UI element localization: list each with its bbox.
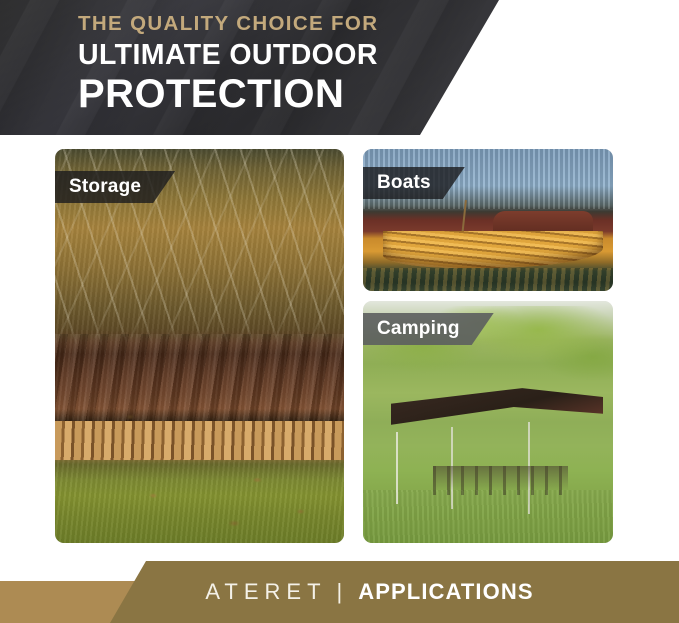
storage-photo: [55, 149, 344, 543]
panel-camping[interactable]: Camping: [363, 301, 613, 543]
boat-hull-decoration: [383, 231, 603, 268]
header-tagline: THE QUALITY CHOICE FOR: [78, 14, 378, 35]
boat-water-reflection-decoration: [363, 268, 613, 291]
panel-caption-camping: Camping: [363, 313, 494, 345]
storage-log-stack-decoration: [55, 421, 344, 460]
camping-grass-decoration: [363, 490, 613, 543]
footer-text-block: ATERET | APPLICATIONS: [0, 561, 679, 623]
header-title-line-1: ULTIMATE OUTDOOR: [78, 41, 378, 70]
header-title-line-2: PROTECTION: [78, 74, 378, 114]
application-panels-grid: Storage Boats Camping: [0, 144, 679, 549]
header-banner: THE QUALITY CHOICE FOR ULTIMATE OUTDOOR …: [0, 0, 679, 135]
header-text-block: THE QUALITY CHOICE FOR ULTIMATE OUTDOOR …: [78, 14, 378, 114]
storage-tarp-folds-decoration: [55, 334, 344, 425]
footer-section-label: APPLICATIONS: [358, 579, 533, 605]
footer-divider: |: [337, 579, 343, 605]
panel-boats[interactable]: Boats: [363, 149, 613, 291]
footer-banner: ATERET | APPLICATIONS: [0, 561, 679, 623]
footer-brand-name: ATERET: [205, 579, 326, 605]
panel-storage[interactable]: Storage: [55, 149, 344, 543]
